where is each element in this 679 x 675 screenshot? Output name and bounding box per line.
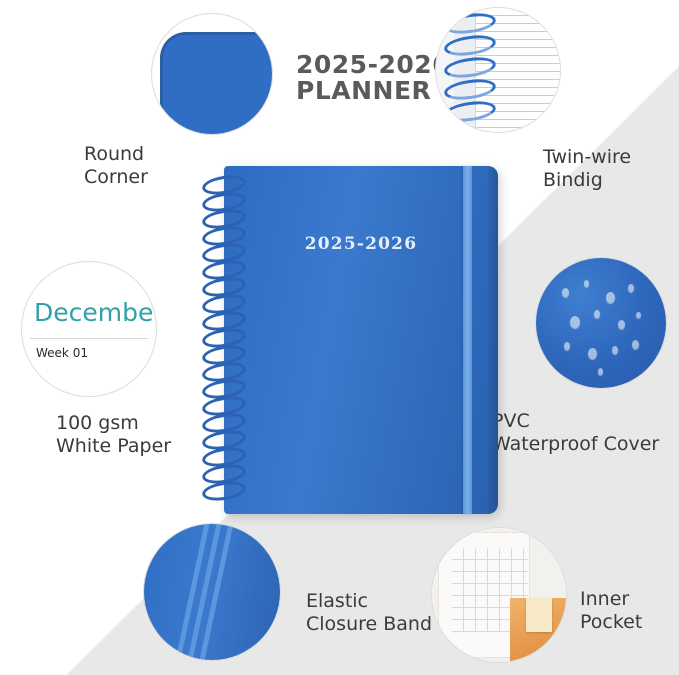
divider — [30, 338, 148, 339]
week-label: Week 01 — [36, 346, 88, 360]
round-corner-thumbnail — [152, 14, 272, 134]
title-line-1: 2025-2026 — [296, 52, 450, 78]
planner-product-image: 2025-2026 — [200, 166, 498, 514]
water-droplets-icon — [632, 340, 639, 349]
callout-pocket-line2: Pocket — [580, 611, 642, 634]
water-droplets-icon — [564, 342, 570, 350]
callout-pvc-line2: Waterproof Cover — [492, 433, 659, 456]
water-droplets-icon — [584, 280, 589, 287]
inserted-card — [526, 598, 552, 632]
callout-inner-pocket: Inner Pocket — [580, 588, 642, 634]
callout-twin-wire-line1: Twin-wire — [543, 146, 631, 169]
water-droplets-icon — [588, 348, 597, 359]
title-line-2: PLANNER — [296, 78, 450, 104]
water-droplets-icon — [636, 312, 641, 318]
page-title: 2025-2026 PLANNER — [296, 52, 450, 105]
water-droplets-icon — [606, 292, 615, 303]
product-infographic: 2025-2026 PLANNER Round Corner Twin-wire… — [0, 0, 679, 675]
water-droplets-icon — [594, 310, 600, 318]
callout-white-paper-line2: White Paper — [56, 435, 171, 458]
elastic-band-icon — [463, 166, 472, 514]
cover-year-text: 2025-2026 — [224, 234, 498, 254]
elastic-closure-thumbnail — [144, 524, 280, 660]
december-month-label: December — [34, 298, 156, 327]
water-droplets-icon — [618, 320, 625, 329]
water-droplets-icon — [562, 288, 569, 297]
callout-white-paper-line1: 100 gsm — [56, 412, 171, 435]
pvc-cover-thumbnail — [536, 258, 666, 388]
callout-round-corner: Round Corner — [84, 143, 148, 189]
inner-pocket-thumbnail — [432, 528, 566, 662]
callout-twin-wire: Twin-wire Bindig — [543, 146, 631, 192]
callout-round-corner-line2: Corner — [84, 166, 148, 189]
callout-elastic-line2: Closure Band — [306, 613, 432, 636]
callout-elastic-line1: Elastic — [306, 590, 432, 613]
callout-round-corner-line1: Round — [84, 143, 148, 166]
spiral-binding-icon — [200, 166, 244, 514]
callout-pvc-line1: PVC — [492, 410, 659, 433]
callout-elastic-closure: Elastic Closure Band — [306, 590, 432, 636]
callout-pocket-line1: Inner — [580, 588, 642, 611]
callout-pvc-cover: PVC Waterproof Cover — [492, 410, 659, 456]
rounded-corner-swatch-icon — [160, 32, 272, 134]
water-droplets-icon — [598, 368, 603, 375]
twin-wire-thumbnail — [436, 8, 560, 132]
water-droplets-icon — [612, 346, 618, 354]
water-droplets-icon — [628, 284, 634, 292]
callout-white-paper: 100 gsm White Paper — [56, 412, 171, 458]
water-droplets-icon — [570, 316, 580, 328]
book-cover: 2025-2026 — [224, 166, 498, 514]
white-paper-thumbnail: December Week 01 — [22, 262, 156, 396]
cover-edge — [488, 166, 498, 514]
callout-twin-wire-line2: Bindig — [543, 169, 631, 192]
